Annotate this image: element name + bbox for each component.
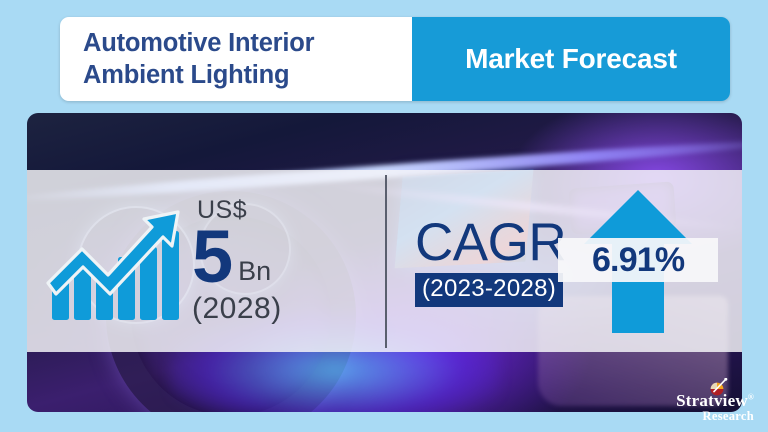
cagr-arrow-wrap: 6.91% (580, 186, 696, 336)
logo-brand-name: Stratview® (676, 392, 754, 410)
cagr-label: CAGR (415, 216, 566, 269)
page-title-line-1: Automotive Interior (83, 27, 412, 59)
cagr-stat: CAGR (2023-2028) 6.91% (415, 186, 725, 336)
market-size-unit: Bn (238, 258, 271, 285)
forecast-year: (2028) (192, 294, 282, 324)
header-banner: Automotive Interior Ambient Lighting Mar… (60, 17, 730, 101)
bar-chart-growth-arrow-icon (46, 199, 186, 324)
logo-subtitle: Research (703, 410, 754, 423)
page-title-line-2: Ambient Lighting (83, 59, 412, 91)
logo-brand-text: Stratview (676, 391, 748, 410)
cagr-value: 6.91% (592, 241, 684, 280)
stratview-research-logo: Stratview® Research (676, 378, 754, 423)
header-badge-label: Market Forecast (465, 43, 677, 75)
cagr-label-block: CAGR (2023-2028) (415, 216, 566, 307)
stat-divider (385, 175, 387, 348)
market-size-stat: US$ 5 Bn (2028) (46, 186, 366, 336)
cagr-period-badge: (2023-2028) (415, 273, 563, 307)
logo-registered-mark: ® (748, 392, 754, 401)
header-badge: Market Forecast (412, 17, 730, 101)
header-title-card: Automotive Interior Ambient Lighting (60, 17, 412, 101)
cagr-value-band: 6.91% (558, 238, 718, 282)
market-size-value: 5 (192, 223, 231, 291)
market-size-values: US$ 5 Bn (2028) (192, 198, 282, 323)
